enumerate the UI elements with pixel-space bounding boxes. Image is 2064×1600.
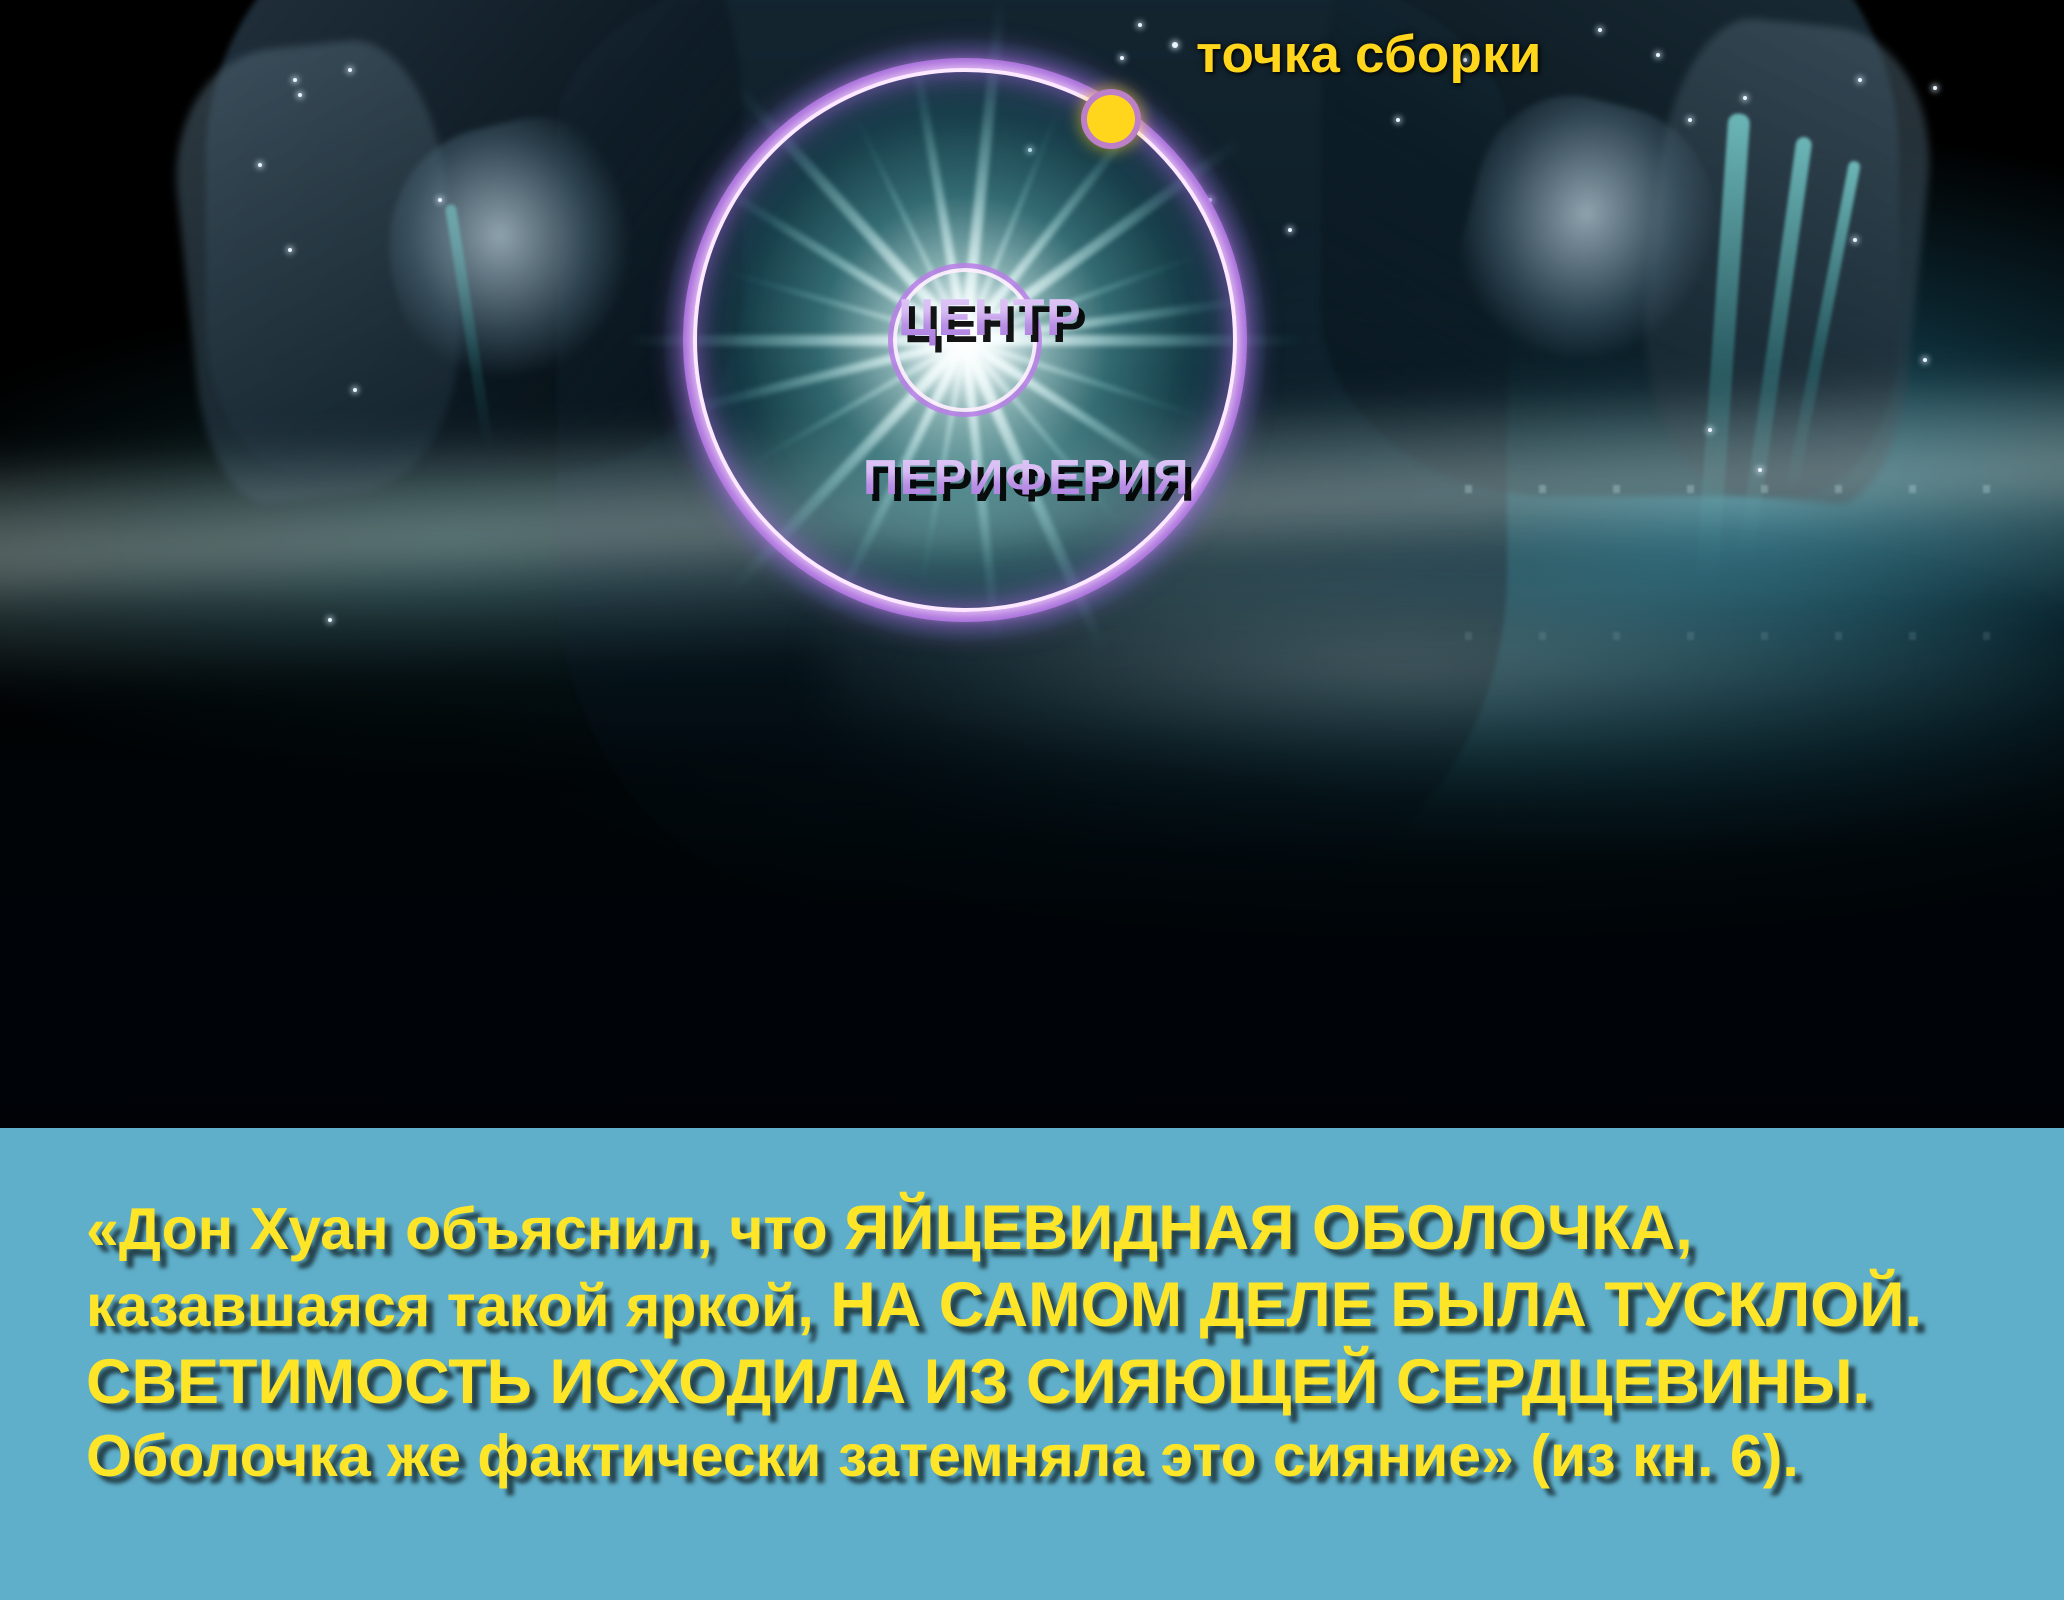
floor-shade (0, 587, 2064, 1128)
caption-normal: казавшаяся такой яркой, (86, 1273, 830, 1339)
star (353, 388, 357, 392)
star (328, 618, 332, 622)
assemblage-point-dot (1081, 89, 1141, 149)
periphery-label: ПЕРИФЕРИЯ (863, 450, 1190, 506)
star (1172, 42, 1178, 48)
star (288, 248, 292, 252)
star (348, 68, 352, 72)
star (438, 198, 442, 202)
slide-canvas: точка сборки ЦЕНТР ПЕРИФЕРИЯ «Дон Хуан о… (0, 0, 2064, 1600)
star (1656, 53, 1660, 57)
star (1853, 238, 1857, 242)
star (1858, 78, 1862, 82)
star (1758, 468, 1762, 472)
star (1396, 118, 1400, 122)
assemblage-point-label: точка сборки (1196, 24, 1542, 85)
caption-normal: «Дон Хуан объяснил, что (86, 1196, 844, 1262)
caption-band: «Дон Хуан объяснил, что ЯЙЦЕВИДНАЯ ОБОЛО… (0, 1128, 2064, 1600)
center-label: ЦЕНТР (898, 288, 1082, 348)
star (1598, 28, 1602, 32)
star (298, 93, 302, 97)
star (1138, 23, 1142, 27)
caption-text: «Дон Хуан объяснил, что ЯЙЦЕВИДНАЯ ОБОЛО… (86, 1190, 1966, 1493)
caption-normal: Оболочка же фактически затемняла это сия… (86, 1423, 1799, 1489)
caption-emphasis: ЯЙЦЕВИДНАЯ ОБОЛОЧКА, (844, 1193, 1693, 1263)
background-photo: точка сборки ЦЕНТР ПЕРИФЕРИЯ (0, 0, 2064, 1128)
star (1288, 228, 1292, 232)
star (258, 163, 262, 167)
star (1120, 56, 1124, 60)
star (1933, 86, 1937, 90)
star (293, 78, 297, 82)
star (1688, 118, 1692, 122)
star (1708, 428, 1712, 432)
star (1923, 358, 1927, 362)
star (1743, 96, 1747, 100)
